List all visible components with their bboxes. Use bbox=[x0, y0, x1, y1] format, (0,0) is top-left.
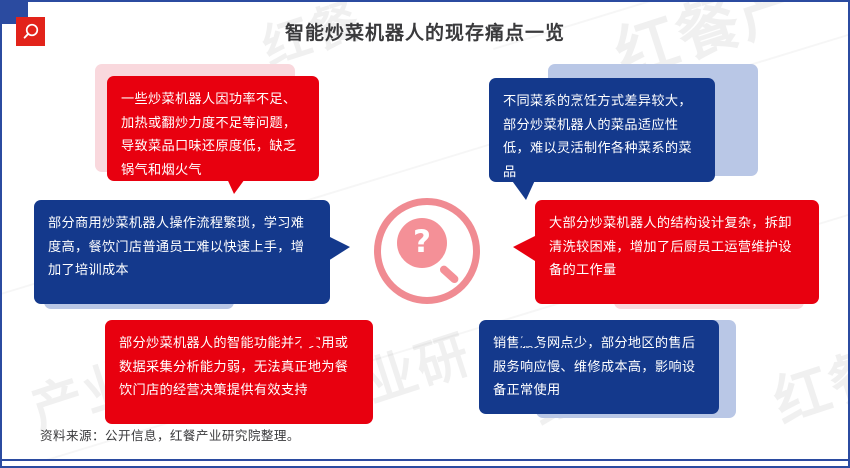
source-note: 资料来源：公开信息，红餐产业研究院整理。 bbox=[40, 425, 300, 444]
bottom-accent-bar bbox=[2, 459, 848, 466]
bubble-tail-top-left bbox=[224, 172, 250, 194]
bubble-structure-cleaning[interactable]: 大部分炒菜机器人的结构设计复杂，拆卸清洗较困难，增加了后厨员工运营维护设备的工作… bbox=[535, 200, 819, 304]
question-mark: ? bbox=[413, 227, 431, 258]
bubble-cuisine-adaptability[interactable]: 不同菜系的烹饪方式差异较大，部分炒菜机器人的菜品适应性低，难以灵活制作各种菜系的… bbox=[489, 78, 715, 182]
page-title: 智能炒菜机器人的现存痛点一览 bbox=[2, 18, 848, 45]
bubble-text: 大部分炒菜机器人的结构设计复杂，拆卸清洗较困难，增加了后厨员工运营维护设备的工作… bbox=[549, 215, 792, 277]
bubble-power[interactable]: 一些炒菜机器人因功率不足、加热或翻炒力度不足等问题，导致菜品口味还原度低，缺乏锅… bbox=[107, 76, 319, 181]
bubble-text: 不同菜系的烹饪方式差异较大，部分炒菜机器人的菜品适应性低，难以灵活制作各种菜系的… bbox=[503, 93, 692, 179]
watermark-text: 红餐产 bbox=[762, 308, 850, 439]
bubble-tail-middle-right bbox=[513, 236, 535, 261]
magnifier-question-icon: ? bbox=[381, 205, 487, 311]
infographic-page: 红餐产 红餐产 产业研 产业研 红餐 红餐 智能炒菜机器人的现存痛点一览 一些炒… bbox=[0, 0, 850, 468]
center-emblem-ring: ? bbox=[374, 198, 480, 304]
bubble-text: 一些炒菜机器人因功率不足、加热或翻炒力度不足等问题，导致菜品口味还原度低，缺乏锅… bbox=[121, 91, 296, 177]
bubble-tail-bottom-left bbox=[298, 324, 322, 346]
bubble-after-sales[interactable]: 销售服务网点少，部分地区的售后服务响应慢、维修成本高，影响设备正常使用 bbox=[479, 320, 719, 414]
bubble-tail-top-right bbox=[510, 178, 536, 200]
bubble-tail-bottom-right bbox=[516, 324, 540, 346]
bubble-smart-features[interactable]: 部分炒菜机器人的智能功能并不实用或数据采集分析能力弱，无法真正地为餐饮门店的经营… bbox=[105, 320, 373, 424]
bubble-operation-complexity[interactable]: 部分商用炒菜机器人操作流程繁琐，学习难度高，餐饮门店普通员工难以快速上手，增加了… bbox=[34, 200, 330, 304]
bubble-tail-middle-left bbox=[328, 236, 350, 261]
magnifier-handle bbox=[438, 264, 460, 285]
magnifier-lens: ? bbox=[397, 218, 447, 268]
bubble-text: 部分商用炒菜机器人操作流程繁琐，学习难度高，餐饮门店普通员工难以快速上手，增加了… bbox=[48, 215, 304, 277]
